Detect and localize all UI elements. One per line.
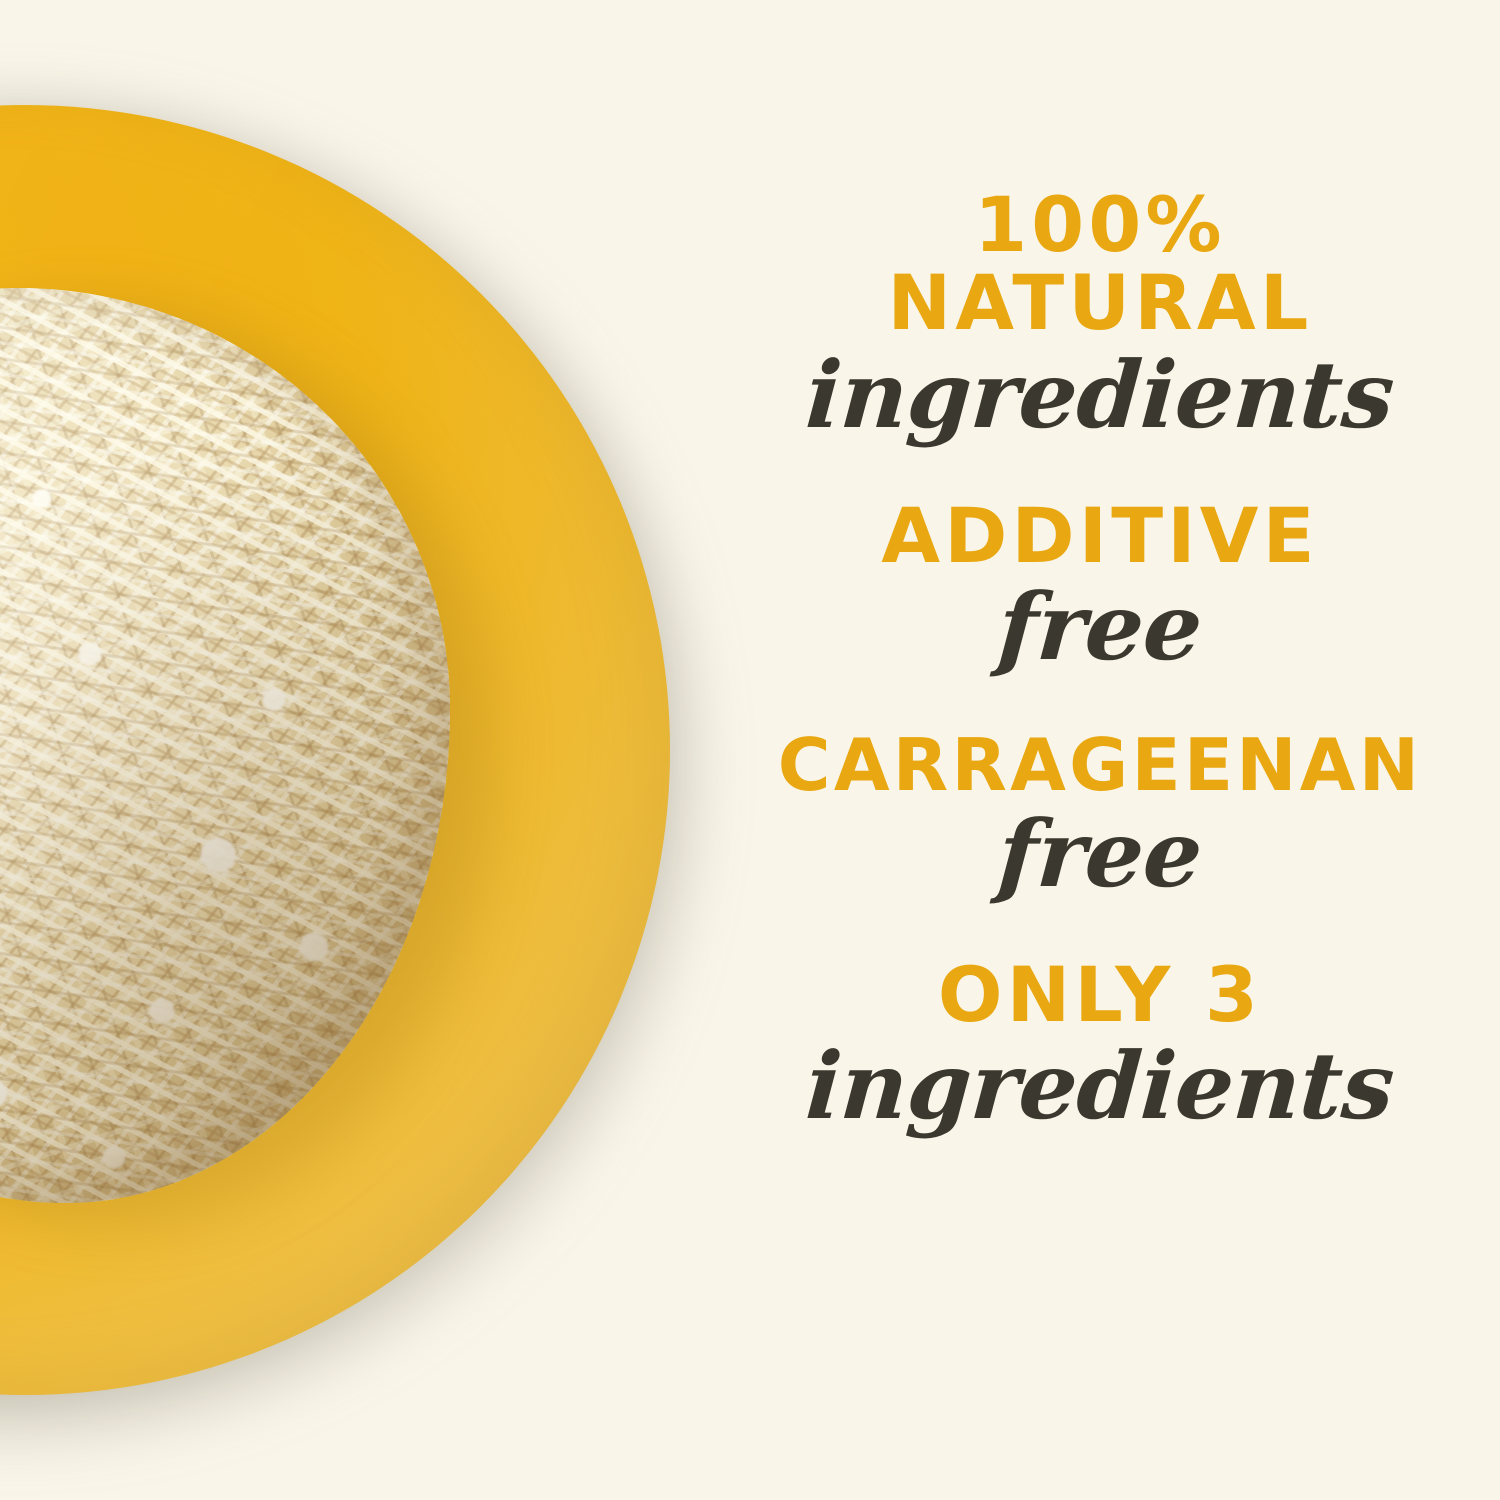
claim-subline: ingredients [697, 349, 1500, 441]
claim-headline: CARRAGEENAN [700, 729, 1500, 802]
claims-list: 100% NATURAL ingredients ADDITIVE free C… [700, 0, 1500, 1500]
claim-subline: free [697, 808, 1500, 900]
claim-item-additive-free: ADDITIVE free [700, 497, 1500, 673]
shredded-chicken-and-rice [0, 288, 450, 1203]
claim-subline: free [697, 581, 1500, 673]
claim-subline: ingredients [697, 1040, 1500, 1132]
claim-item-natural-ingredients: 100% NATURAL ingredients [700, 186, 1500, 441]
claim-item-only-3-ingredients: ONLY 3 ingredients [700, 956, 1500, 1132]
product-claims-banner: 100% NATURAL ingredients ADDITIVE free C… [0, 0, 1500, 1500]
claim-headline: 100% NATURAL [700, 186, 1500, 341]
claim-headline: ONLY 3 [700, 956, 1500, 1034]
claim-item-carrageenan-free: CARRAGEENAN free [700, 729, 1500, 900]
claim-headline: ADDITIVE [700, 497, 1500, 575]
